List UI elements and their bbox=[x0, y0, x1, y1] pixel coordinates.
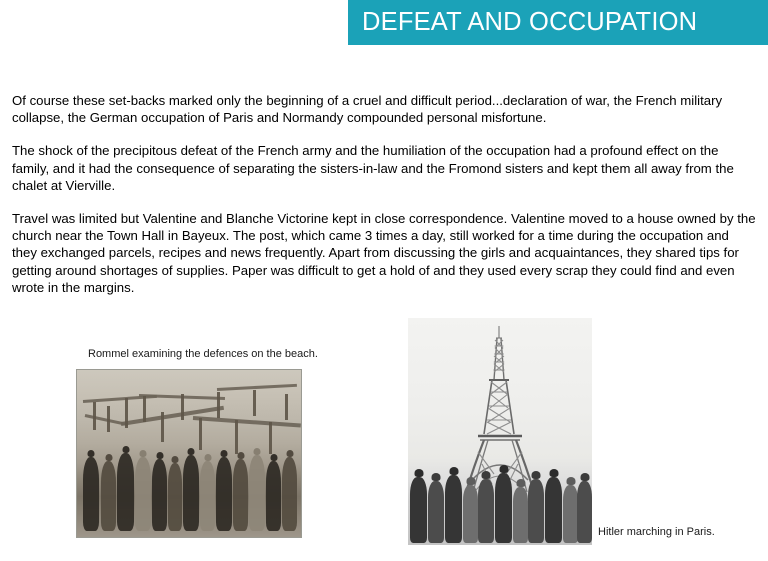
photo-rommel-beach bbox=[76, 369, 302, 538]
figure-rommel-beach: Rommel examining the defences on the bea… bbox=[76, 348, 304, 538]
page-title: DEFEAT AND OCCUPATION bbox=[362, 10, 697, 36]
body-paragraph-2: The shock of the precipitous defeat of t… bbox=[12, 142, 756, 194]
photo-hitler-paris bbox=[408, 318, 592, 545]
slide-title-banner: DEFEAT AND OCCUPATION bbox=[348, 0, 768, 45]
figure-caption-rommel: Rommel examining the defences on the bea… bbox=[88, 348, 304, 361]
figure-hitler-paris: Hitler marching in Paris. bbox=[408, 318, 592, 545]
slide-body-text: Of course these set-backs marked only th… bbox=[12, 92, 756, 296]
figure-caption-hitler: Hitler marching in Paris. bbox=[598, 526, 715, 539]
body-paragraph-1: Of course these set-backs marked only th… bbox=[12, 92, 756, 126]
paris-officers-crowd bbox=[408, 463, 592, 545]
body-paragraph-3: Travel was limited but Valentine and Bla… bbox=[12, 210, 756, 296]
